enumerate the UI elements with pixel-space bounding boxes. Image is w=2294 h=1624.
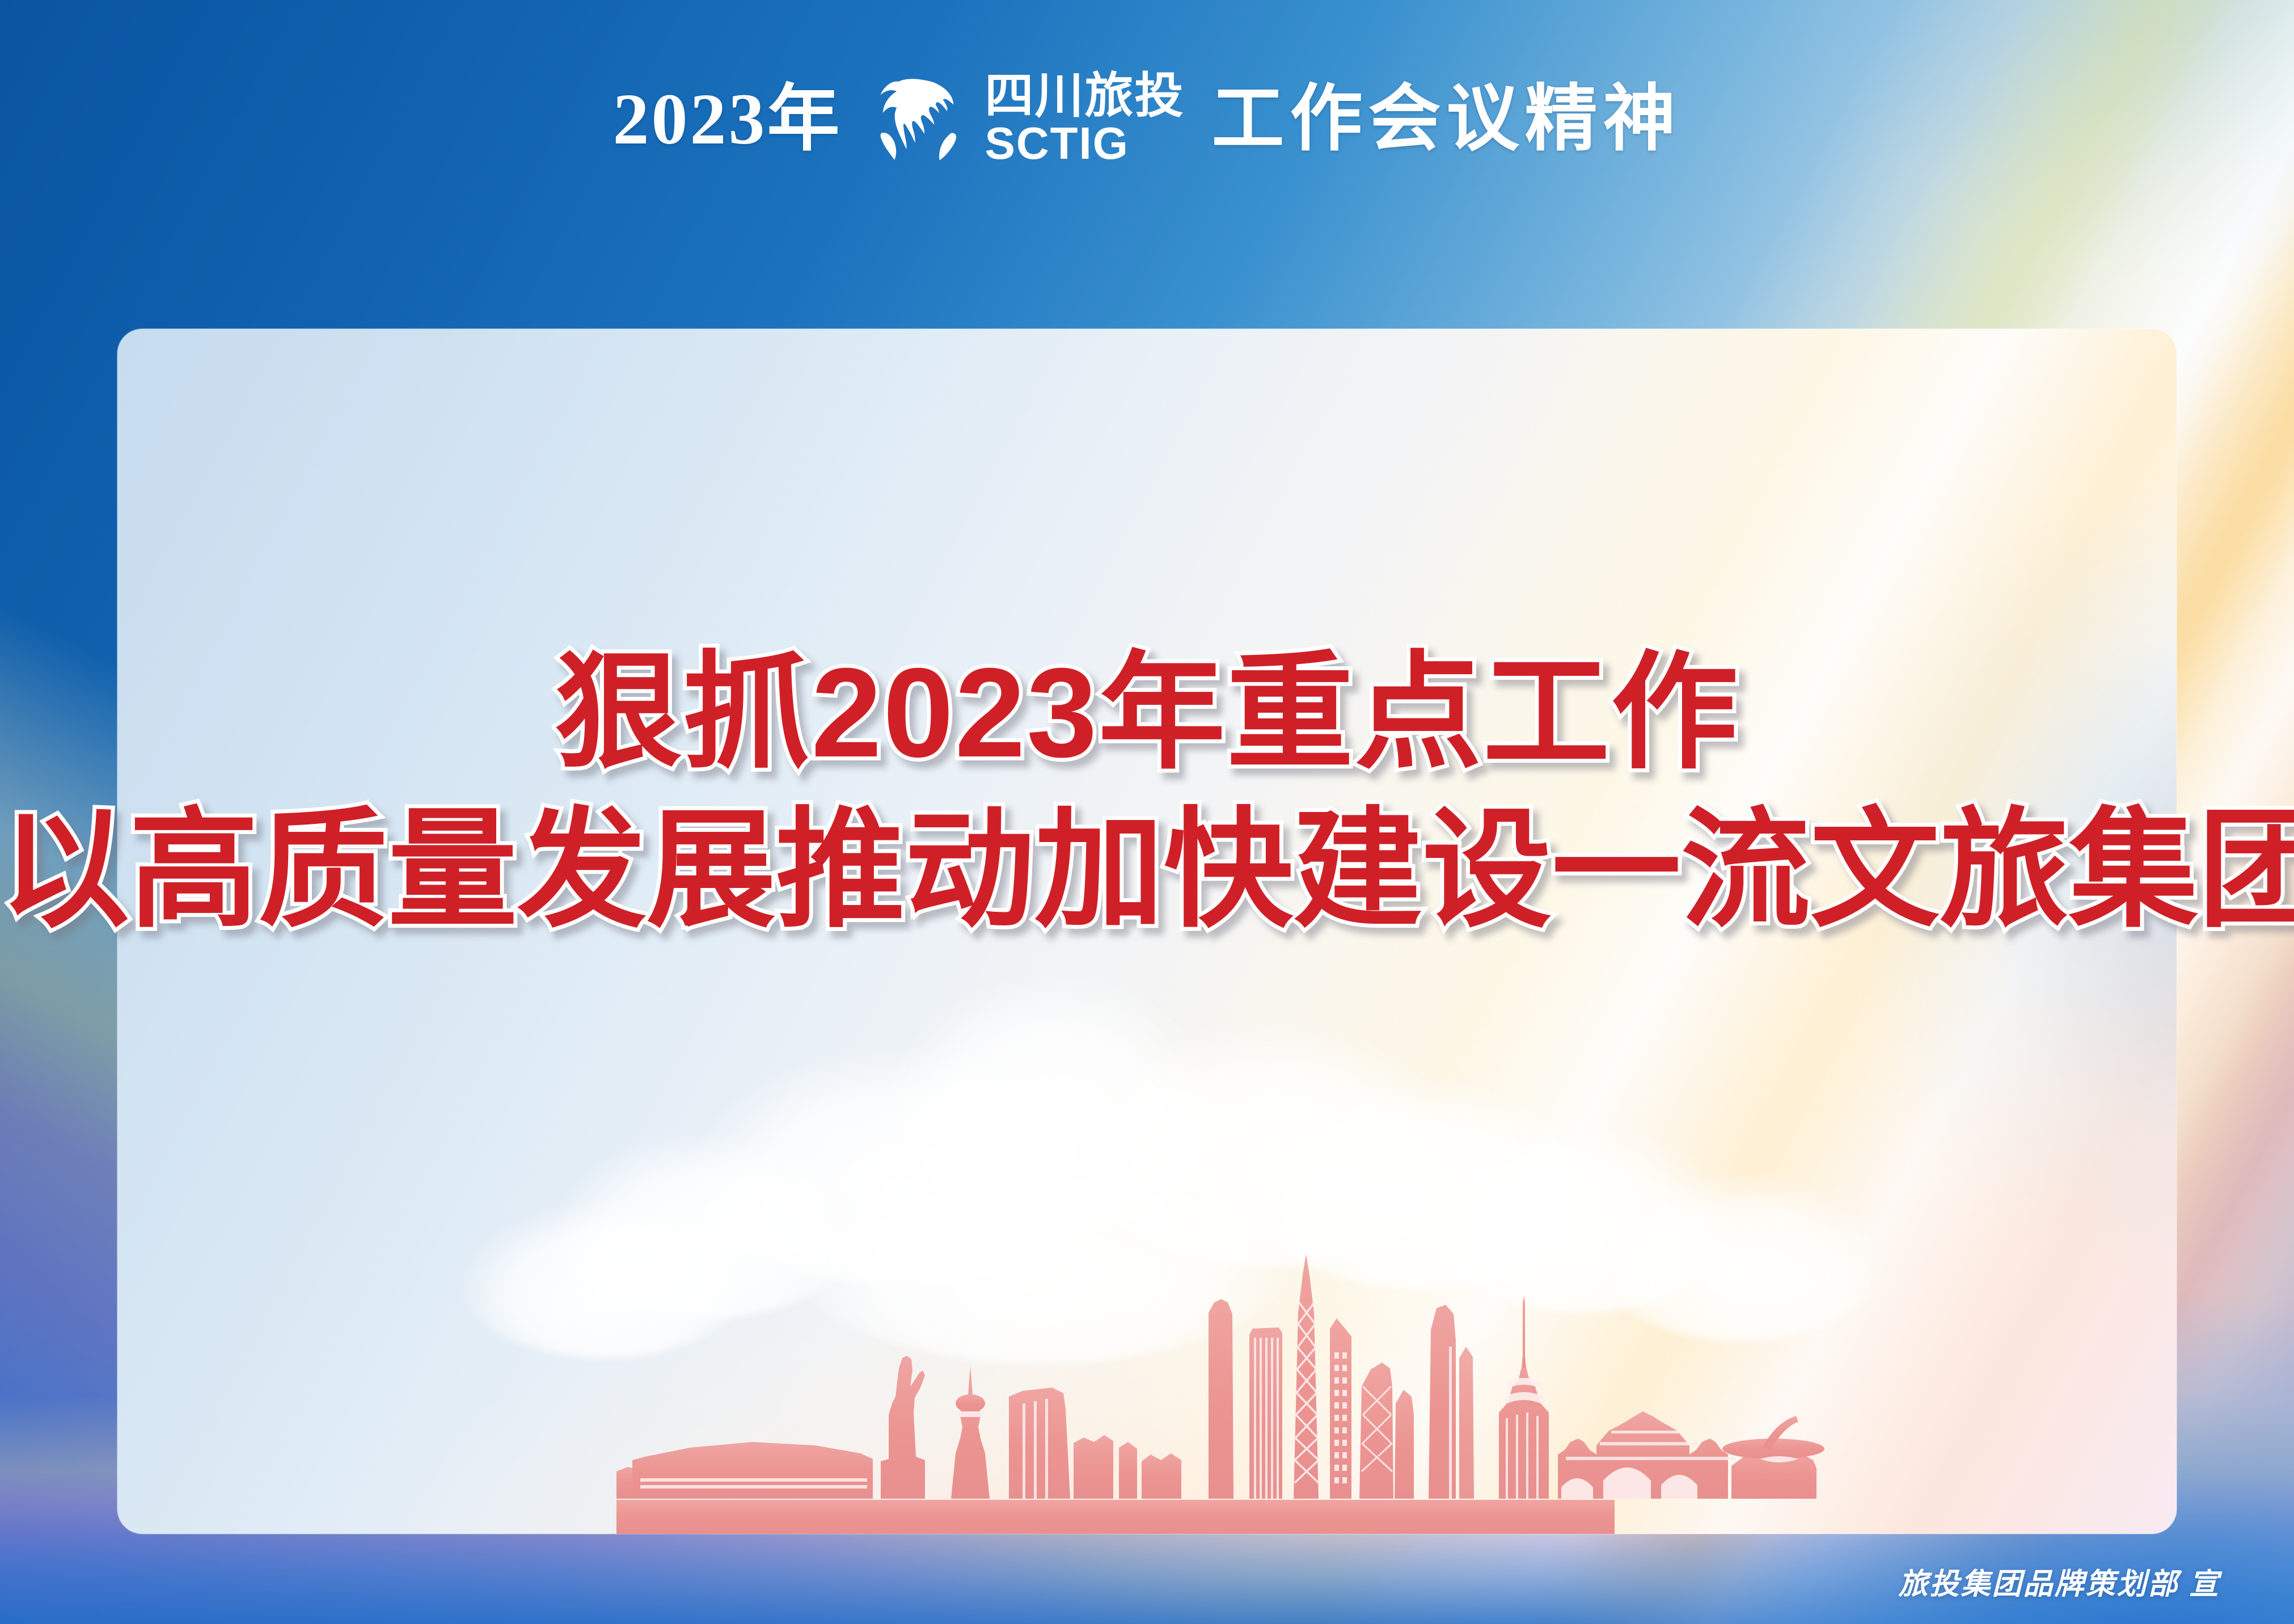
footer-credit: 旅投集团品牌策划部 宣 <box>1899 1560 2220 1602</box>
poster-root: 2023年 四川旅投 SCTIG 工作会议精神 <box>0 0 2294 1624</box>
brand-name-en: SCTIG <box>985 122 1129 165</box>
sctig-globe-panda-logo-icon <box>869 71 970 167</box>
brand-logo-wordmark: 四川旅投 SCTIG <box>985 73 1184 165</box>
chengdu-city-skyline-silhouette-icon <box>117 1216 2177 1534</box>
brand-name-cn: 四川旅投 <box>985 73 1184 120</box>
header-year-label: 2023年 <box>612 83 842 155</box>
brand-logo-lockup: 四川旅投 SCTIG <box>869 71 1184 167</box>
card-background <box>117 329 2177 1534</box>
poster-header: 2023年 四川旅投 SCTIG 工作会议精神 <box>0 0 2294 238</box>
header-suffix-label: 工作会议精神 <box>1211 83 1681 155</box>
main-content-card <box>117 329 2177 1534</box>
